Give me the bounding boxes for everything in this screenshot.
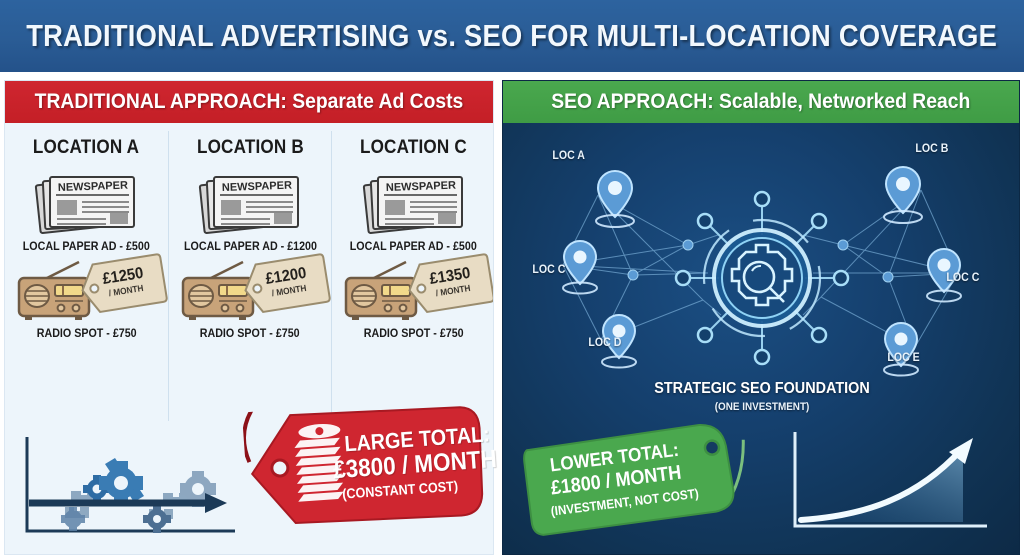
radio-row: £1250 / MONTH <box>5 258 168 324</box>
pin-label-loc-d: LOC D <box>588 337 621 349</box>
newspaper-icon: NEWSPAPER <box>358 165 470 237</box>
page-title: TRADITIONAL ADVERTISING vs. SEO FOR MULT… <box>27 18 998 54</box>
location-column: LOCATION B NEWSPAPER <box>168 131 332 421</box>
location-column: LOCATION A NEWSPAPER <box>5 131 168 421</box>
location-columns: LOCATION A NEWSPAPER <box>5 131 494 421</box>
seo-network-diagram: LOC A LOC B LOC C LOC C LOC D LOC E STRA… <box>503 125 1020 425</box>
location-column: LOCATION C NEWSPAPER <box>331 131 494 421</box>
seo-panel: SEO APPROACH: Scalable, Networked Reach <box>502 80 1020 555</box>
hub-title: STRATEGIC SEO FOUNDATION <box>529 380 995 398</box>
hub-subtitle: (ONE INVESTMENT) <box>529 401 995 413</box>
pin-label-loc-e: LOC E <box>887 352 919 364</box>
pin-label-loc-c-left: LOC C <box>532 264 565 276</box>
radio-cost-label: RADIO SPOT - £750 <box>364 328 464 340</box>
radio-cost-label: RADIO SPOT - £750 <box>36 328 136 340</box>
radio-row: £1350 / MONTH <box>332 258 494 324</box>
svg-text:NEWSPAPER: NEWSPAPER <box>385 180 456 194</box>
seo-band: SEO APPROACH: Scalable, Networked Reach <box>503 81 1019 123</box>
traditional-band-label: TRADITIONAL APPROACH: Separate Ad Costs <box>35 90 464 114</box>
traditional-band: TRADITIONAL APPROACH: Separate Ad Costs <box>5 81 493 123</box>
paper-cost-label: LOCAL PAPER AD - £1200 <box>184 241 317 253</box>
pin-label-loc-b: LOC B <box>915 143 948 155</box>
seo-band-label: SEO APPROACH: Scalable, Networked Reach <box>551 90 970 114</box>
infographic-root: TRADITIONAL ADVERTISING vs. SEO FOR MULT… <box>0 0 1024 559</box>
svg-text:NEWSPAPER: NEWSPAPER <box>222 180 293 194</box>
cost-constant-chart <box>13 431 253 551</box>
visibility-growth-chart <box>781 426 1005 546</box>
paper-cost-label: LOCAL PAPER AD - £500 <box>350 241 477 253</box>
location-title: LOCATION B <box>197 137 304 159</box>
traditional-total-tag: LARGE TOTAL: £3800 / MONTH (CONSTANT COS… <box>242 396 490 538</box>
location-title: LOCATION C <box>360 137 467 159</box>
location-title: LOCATION A <box>33 137 139 159</box>
paper-cost-label: LOCAL PAPER AD - £500 <box>23 241 150 253</box>
svg-text:NEWSPAPER: NEWSPAPER <box>58 180 129 194</box>
pin-label-loc-c-right: LOC C <box>946 272 979 284</box>
radio-cost-label: RADIO SPOT - £750 <box>200 328 300 340</box>
radio-row: £1200 / MONTH <box>169 258 332 324</box>
title-bar: TRADITIONAL ADVERTISING vs. SEO FOR MULT… <box>0 0 1024 72</box>
newspaper-icon: NEWSPAPER <box>30 165 142 237</box>
pin-label-loc-a: LOC A <box>552 150 585 162</box>
seo-total-tag: LOWER TOTAL: £1800 / MONTH (INVESTMENT, … <box>517 410 756 545</box>
newspaper-icon: NEWSPAPER <box>194 165 306 237</box>
